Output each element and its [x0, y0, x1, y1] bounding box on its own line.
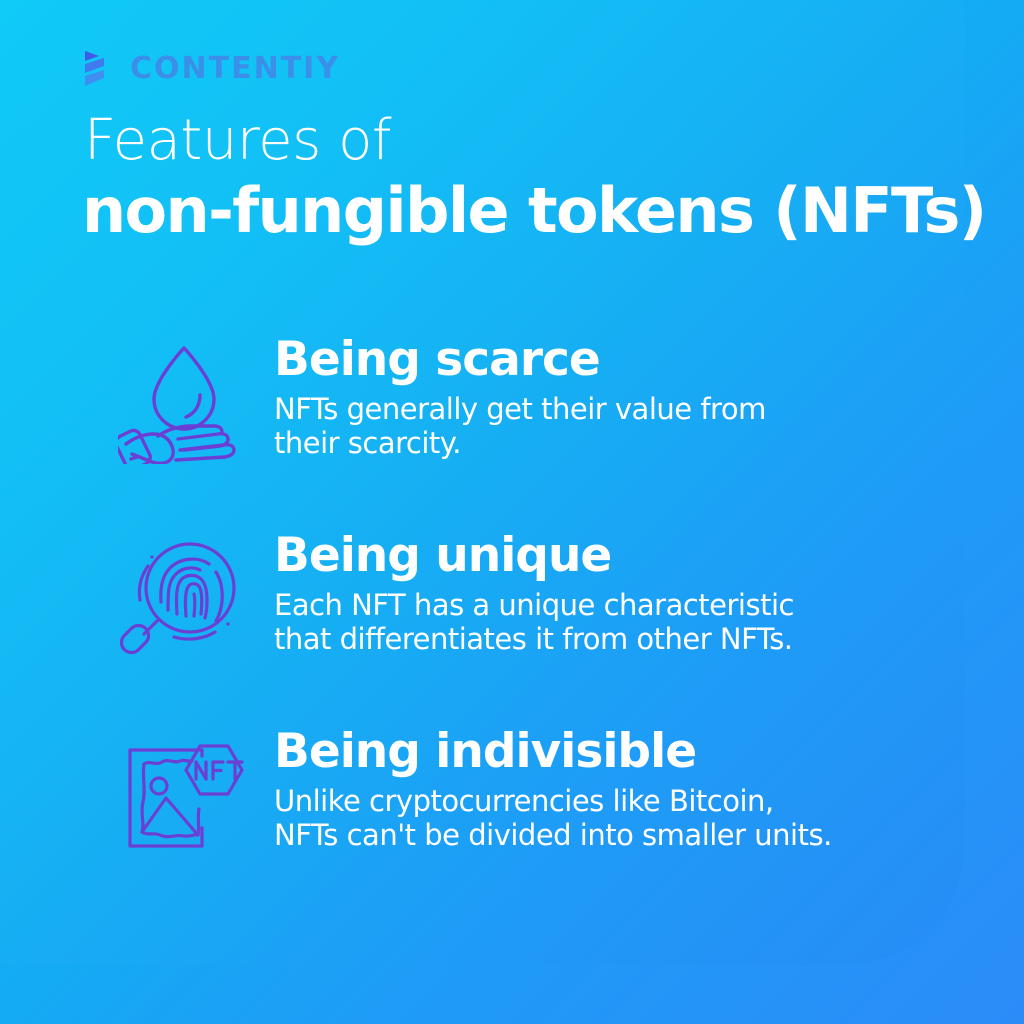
brand-name: CONTENTIY: [130, 54, 340, 84]
page-title-line2: non-fungible tokens (NFTs): [82, 178, 986, 243]
feature-description-line: that differentiates it from other NFTs.: [274, 622, 1024, 656]
feature-title: Being indivisible: [274, 728, 1024, 775]
page-title-line1: Features of: [84, 112, 391, 171]
feature-description: NFTs generally get their value from thei…: [274, 392, 1024, 460]
feature-text: Being indivisible Unlike cryptocurrencie…: [252, 728, 1024, 852]
feature-description: Each NFT has a unique characteristic tha…: [274, 588, 1024, 656]
feature-text: Being unique Each NFT has a unique chara…: [252, 532, 1024, 656]
feature-description-line: NFTs can't be divided into smaller units…: [274, 818, 1024, 852]
list-item: Being indivisible Unlike cryptocurrencie…: [0, 728, 1024, 860]
brand-logo[interactable]: CONTENTIY: [82, 49, 340, 89]
feature-description-line: their scarcity.: [274, 426, 1024, 460]
droplet-in-hand-icon: [112, 336, 252, 468]
feature-title: Being scarce: [274, 336, 1024, 383]
feature-description-line: Unlike cryptocurrencies like Bitcoin,: [274, 784, 1024, 818]
nft-picture-frame-icon: [112, 728, 252, 860]
feature-text: Being scarce NFTs generally get their va…: [252, 336, 1024, 460]
feature-description-line: NFTs generally get their value from: [274, 392, 1024, 426]
fingerprint-magnifier-icon: [112, 532, 252, 664]
contentiy-logo-mark-icon: [82, 49, 116, 89]
feature-description: Unlike cryptocurrencies like Bitcoin, NF…: [274, 784, 1024, 852]
feature-title: Being unique: [274, 532, 1024, 579]
list-item: Being unique Each NFT has a unique chara…: [0, 532, 1024, 664]
list-item: Being scarce NFTs generally get their va…: [0, 336, 1024, 468]
infographic-poster: CONTENTIY Features of non-fungible token…: [0, 0, 1024, 1024]
feature-list: Being scarce NFTs generally get their va…: [0, 336, 1024, 924]
feature-description-line: Each NFT has a unique characteristic: [274, 588, 1024, 622]
